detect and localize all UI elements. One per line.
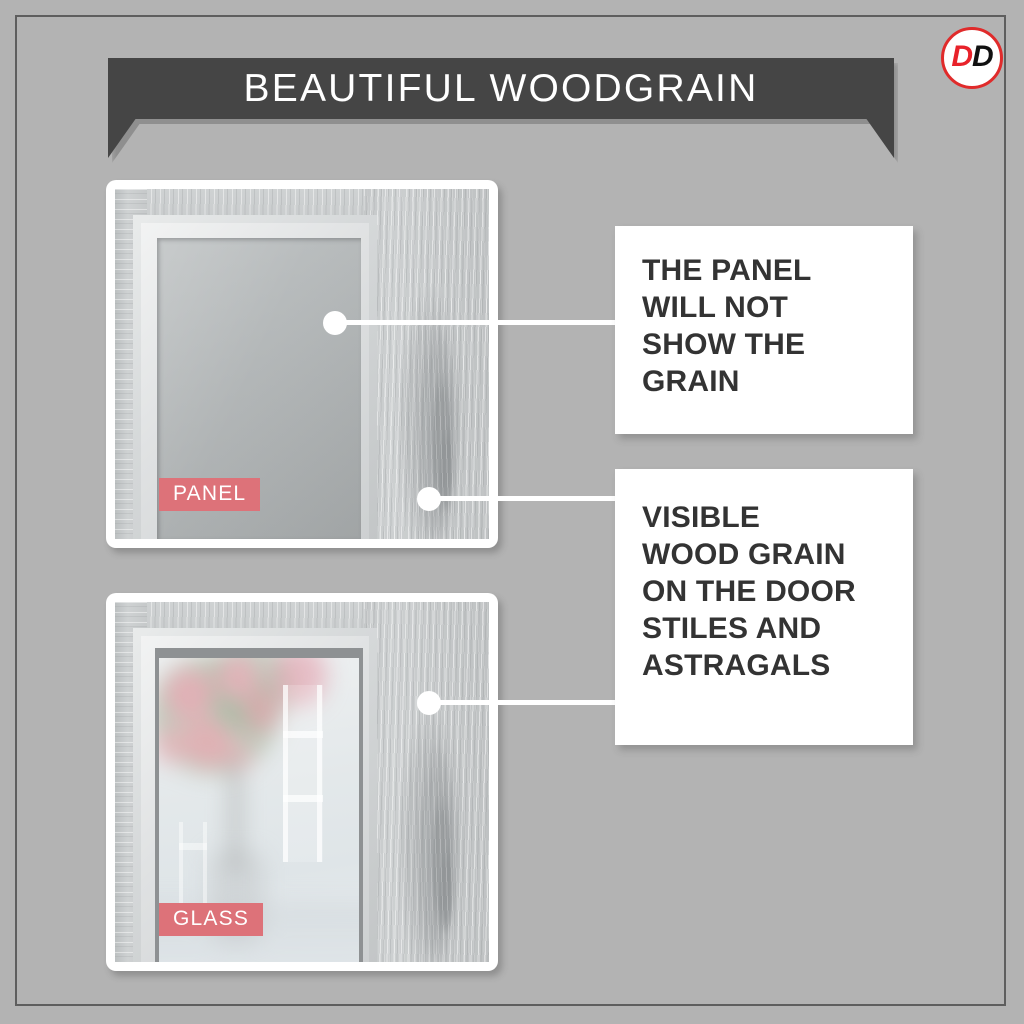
glass-badge: GLASS: [159, 903, 263, 936]
connector-line-panel: [335, 320, 617, 325]
panel-callout-text: THE PANEL WILL NOT SHOW THE GRAIN: [642, 252, 897, 400]
grain-callout: VISIBLE WOOD GRAIN ON THE DOOR STILES AN…: [615, 469, 913, 745]
glass-door-photo-frame: GLASS: [106, 593, 498, 971]
grain-callout-line-4: STILES AND: [642, 610, 897, 647]
infographic-stage: BEAUTIFUL WOODGRAIN DD PANEL: [0, 0, 1024, 1024]
panel-callout-line-3: SHOW THE: [642, 326, 897, 363]
glass-reflection-mullion-v4: [203, 822, 207, 907]
glass-reflection-transom-3: [179, 843, 207, 849]
panel-callout-line-4: GRAIN: [642, 363, 897, 400]
grain-callout-line-3: ON THE DOOR: [642, 573, 897, 610]
panel-callout-line-1: THE PANEL: [642, 252, 897, 289]
glass-reflection-pane-fill: [283, 685, 323, 861]
glass-scene-flower-4: [244, 690, 279, 732]
connector-line-grain-bottom: [429, 700, 617, 705]
grain-callout-line-2: WOOD GRAIN: [642, 536, 897, 573]
grain-callout-line-5: ASTRAGALS: [642, 647, 897, 684]
page-title: BEAUTIFUL WOODGRAIN: [108, 58, 894, 119]
glass-door-photo: GLASS: [115, 602, 489, 962]
dd-logo-letter-1: D: [951, 40, 972, 73]
door-stile-woodgrain-2: [364, 602, 489, 962]
panel-callout-line-2: WILL NOT: [642, 289, 897, 326]
dd-logo-letter-2: D: [972, 40, 993, 73]
dd-logo-text: DD: [951, 42, 992, 72]
title-banner: BEAUTIFUL WOODGRAIN: [108, 58, 894, 158]
panel-callout: THE PANEL WILL NOT SHOW THE GRAIN: [615, 226, 913, 434]
panel-door-photo: PANEL: [115, 189, 489, 539]
grain-callout-text: VISIBLE WOOD GRAIN ON THE DOOR STILES AN…: [642, 499, 897, 684]
connector-line-grain-top: [429, 496, 617, 501]
glass-reflection-mullion-v3: [179, 822, 183, 907]
dd-logo[interactable]: DD: [941, 27, 1003, 89]
grain-callout-line-1: VISIBLE: [642, 499, 897, 536]
panel-badge: PANEL: [159, 478, 260, 511]
glass-scene-flower-7: [224, 739, 254, 771]
